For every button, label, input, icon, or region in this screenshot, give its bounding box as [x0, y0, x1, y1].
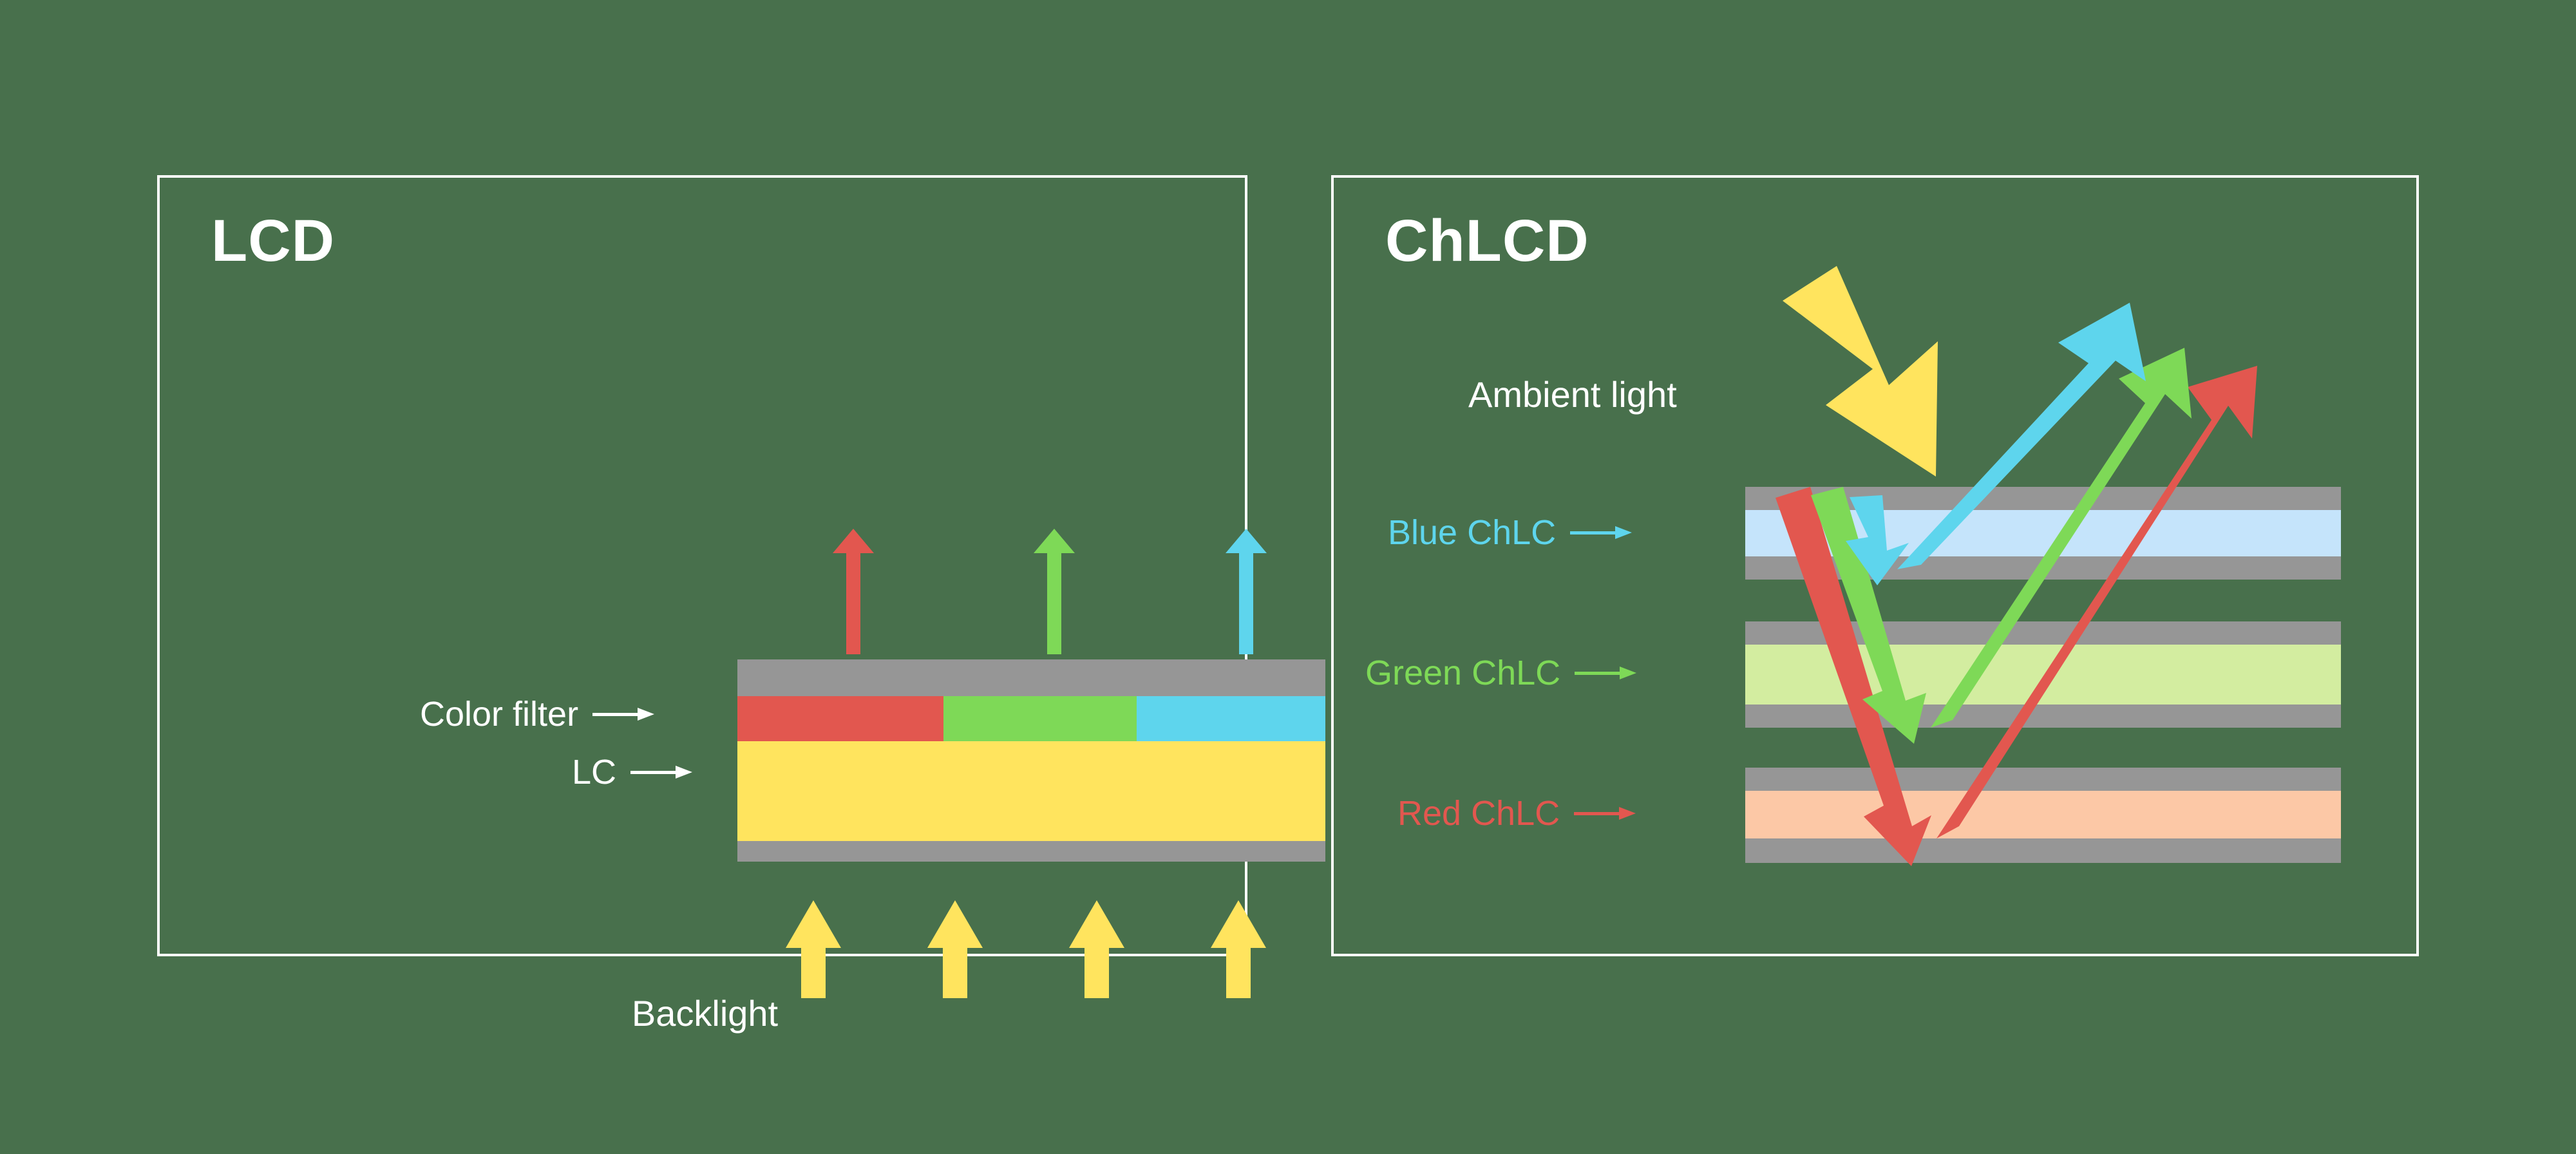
- lc-callout: LC: [572, 755, 692, 790]
- green-filter-segment: [943, 696, 1137, 741]
- gray-band-bottom: [1745, 838, 2341, 863]
- arrow-head: [786, 900, 841, 948]
- arrow-shaft: [846, 552, 860, 654]
- green-chlc-callout-label: Green ChLC: [1365, 656, 1560, 690]
- arrow-shaft: [1047, 552, 1061, 654]
- lcd-liquid-crystal-layer: [737, 741, 1325, 841]
- right-arrow-icon: [592, 708, 654, 721]
- ambient-light-label: Ambient light: [1468, 377, 1677, 413]
- arrow-head: [833, 529, 874, 553]
- arrow-head: [927, 900, 983, 948]
- red-chlc-fill: [1745, 791, 2341, 838]
- green-chlc-fill: [1745, 645, 2341, 705]
- lcd-bottom-glass-layer: [737, 841, 1325, 862]
- chlcd-panel-title: ChLCD: [1385, 211, 1589, 270]
- red-chlc-group: [1745, 768, 2341, 863]
- lcd-layer-stack: [737, 659, 1325, 862]
- blue-chlc-callout-label: Blue ChLC: [1388, 515, 1556, 550]
- gray-band-top: [1745, 621, 2341, 645]
- red-filter-segment: [737, 696, 943, 741]
- right-arrow-icon: [1574, 807, 1636, 820]
- arrow-head: [1211, 900, 1266, 948]
- right-arrow-icon: [630, 766, 692, 779]
- backlight-arrow-3: [1069, 900, 1124, 998]
- color-filter-callout-label: Color filter: [420, 697, 578, 732]
- color-filter-callout: Color filter: [420, 697, 654, 732]
- arrow-head: [1226, 529, 1267, 553]
- lcd-top-glass-layer: [737, 659, 1325, 696]
- red-emitted-arrow: [833, 529, 874, 654]
- blue-emitted-arrow: [1226, 529, 1267, 654]
- lcd-color-filter-layer: [737, 696, 1325, 741]
- diagram-canvas: LCD Color filter LC: [0, 0, 2576, 1154]
- green-chlc-callout: Green ChLC: [1365, 656, 1636, 690]
- green-chlc-group: [1745, 621, 2341, 728]
- arrow-shaft: [801, 948, 826, 998]
- chlcd-layer-stack: [1745, 487, 2341, 863]
- red-chlc-callout: Red ChLC: [1397, 796, 1636, 831]
- arrow-shaft: [1084, 948, 1109, 998]
- right-arrow-icon: [1575, 667, 1636, 679]
- arrow-shaft: [943, 948, 967, 998]
- gray-band-top: [1745, 487, 2341, 510]
- lcd-panel: LCD Color filter LC: [157, 175, 1247, 956]
- gray-band-bottom: [1745, 705, 2341, 728]
- blue-chlc-fill: [1745, 510, 2341, 556]
- backlight-arrow-4: [1211, 900, 1266, 998]
- arrow-shaft: [1239, 552, 1253, 654]
- arrow-shaft: [1226, 948, 1251, 998]
- lc-callout-label: LC: [572, 755, 616, 790]
- blue-filter-segment: [1137, 696, 1325, 741]
- arrow-head: [1034, 529, 1075, 553]
- backlight-label: Backlight: [160, 996, 1250, 1032]
- gray-band-bottom: [1745, 556, 2341, 580]
- right-arrow-icon: [1570, 526, 1632, 539]
- gray-band-top: [1745, 768, 2341, 791]
- lcd-panel-title: LCD: [211, 211, 335, 270]
- backlight-arrow-2: [927, 900, 983, 998]
- red-chlc-callout-label: Red ChLC: [1397, 796, 1560, 831]
- blue-chlc-callout: Blue ChLC: [1388, 515, 1632, 550]
- blue-chlc-group: [1745, 487, 2341, 580]
- backlight-arrow-1: [786, 900, 841, 998]
- arrow-head: [1069, 900, 1124, 948]
- green-emitted-arrow: [1034, 529, 1075, 654]
